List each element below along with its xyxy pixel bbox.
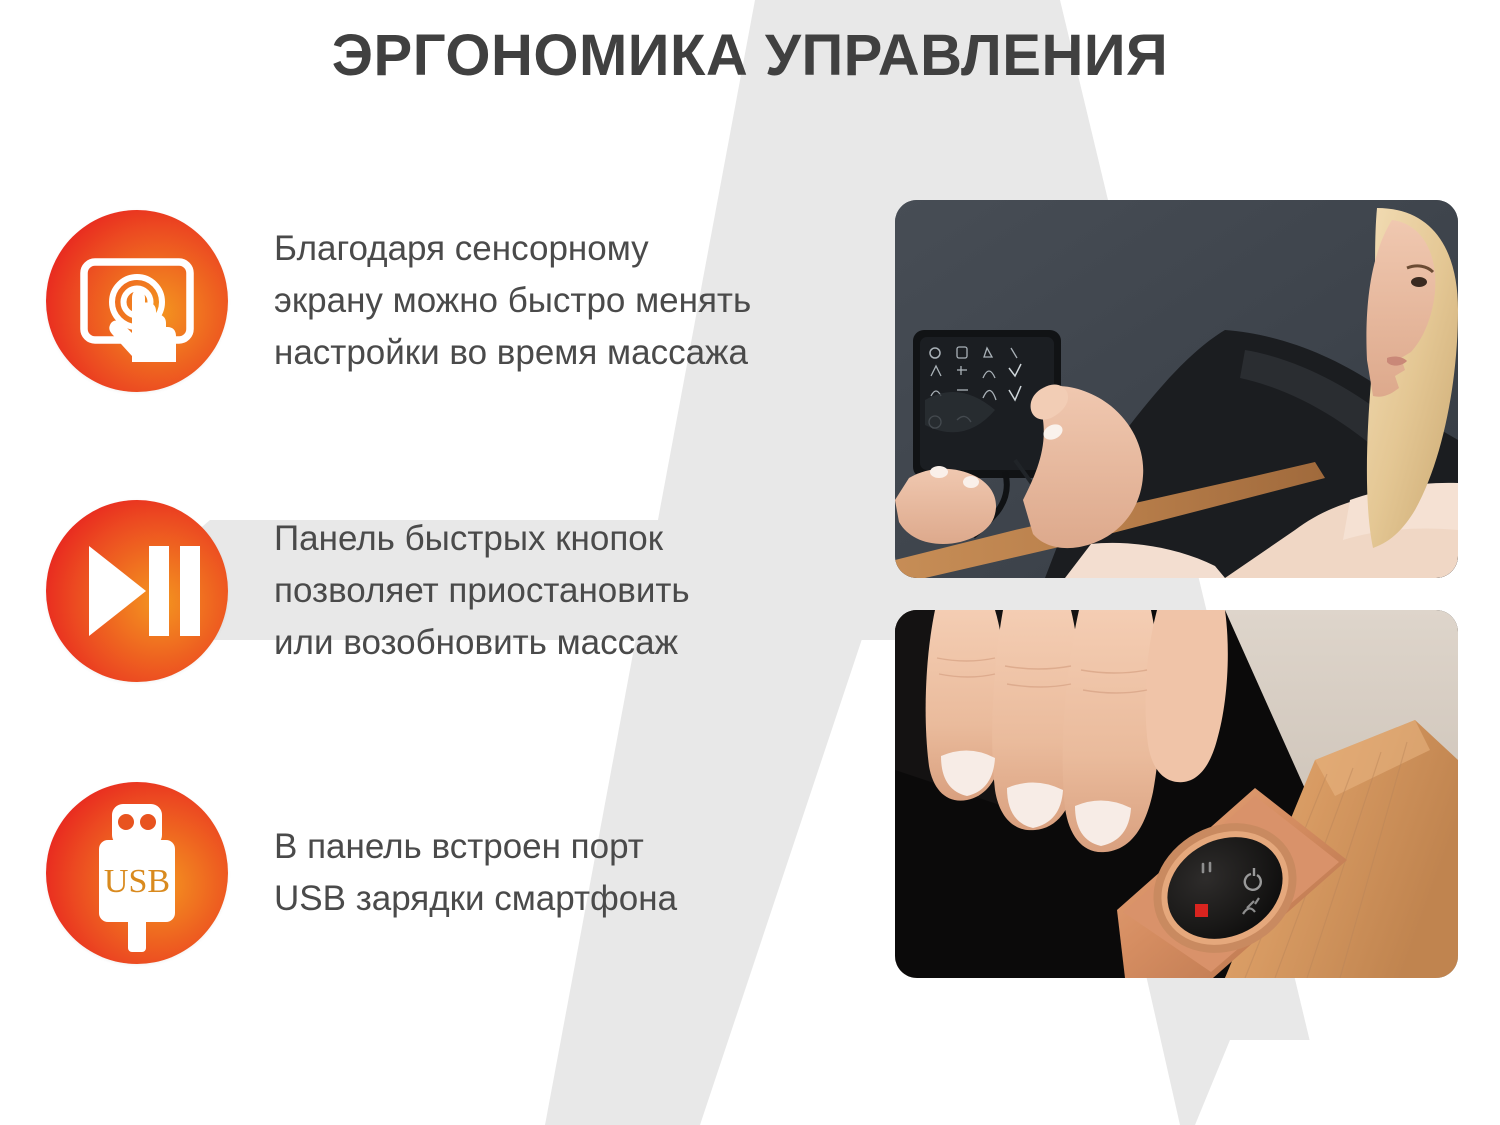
feature-list: Благодаря сенсорному экрану можно быстро… xyxy=(0,0,880,1125)
feature-item-usb: USB В панель встроен порт USB зарядки см… xyxy=(46,782,866,964)
usb-icon: USB xyxy=(46,782,228,964)
feature-text-usb: В панель встроен порт USB зарядки смартф… xyxy=(274,821,677,925)
feature-text-line: В панель встроен порт xyxy=(274,821,677,873)
feature-item-touchscreen: Благодаря сенсорному экрану можно быстро… xyxy=(46,210,866,392)
feature-text-line: экрану можно быстро менять xyxy=(274,275,751,327)
play-pause-icon xyxy=(46,500,228,682)
feature-text-line: настройки во время массажа xyxy=(274,327,751,379)
usb-label: USB xyxy=(104,863,170,900)
photo-touchscreen xyxy=(895,200,1458,578)
feature-text-line: или возобновить массаж xyxy=(274,617,690,669)
slide-root: ЭРГОНОМИКА УПРАВЛЕНИЯ Благодаря сенсорно… xyxy=(0,0,1500,1125)
feature-text-play-pause: Панель быстрых кнопок позволяет приостан… xyxy=(274,513,690,668)
feature-text-line: позволяет приостановить xyxy=(274,565,690,617)
feature-text-line: Благодаря сенсорному xyxy=(274,223,751,275)
feature-text-line: USB зарядки смартфона xyxy=(274,873,677,925)
feature-text-line: Панель быстрых кнопок xyxy=(274,513,690,565)
page-title: ЭРГОНОМИКА УПРАВЛЕНИЯ xyxy=(0,26,1500,87)
touchscreen-icon xyxy=(46,210,228,392)
feature-item-play-pause: Панель быстрых кнопок позволяет приостан… xyxy=(46,500,866,682)
photo-quickbuttons xyxy=(895,610,1458,978)
feature-text-touchscreen: Благодаря сенсорному экрану можно быстро… xyxy=(274,223,751,378)
